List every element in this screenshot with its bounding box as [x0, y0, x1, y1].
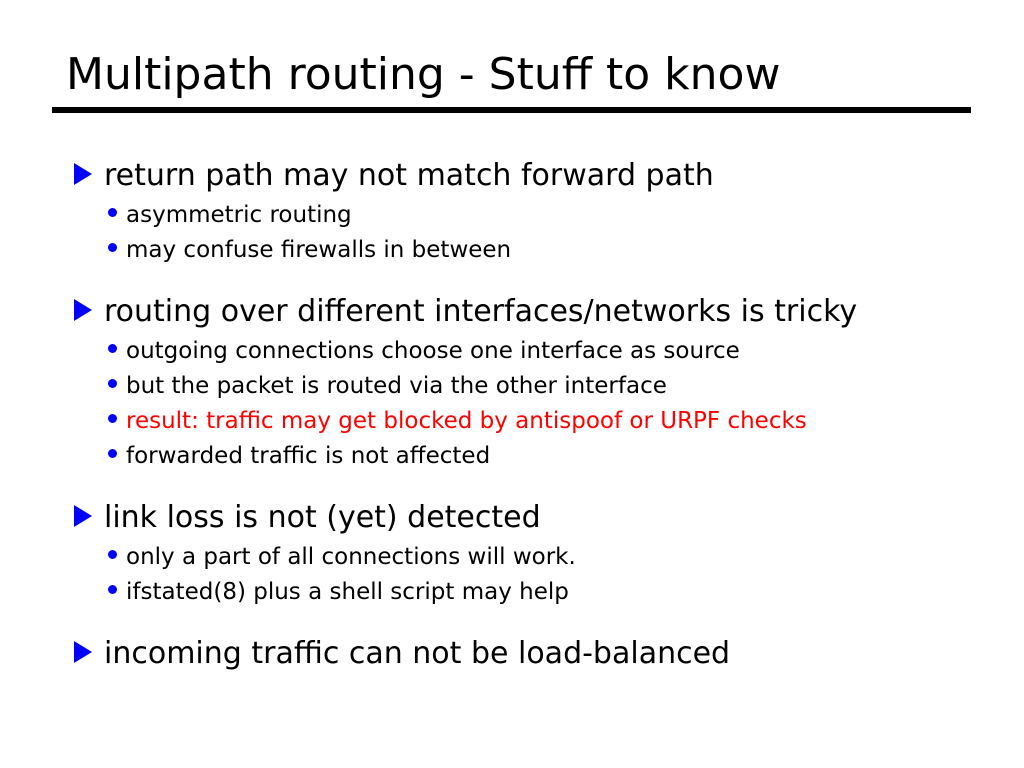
title-block: Multipath routing - Stuff to know [52, 46, 971, 113]
bullet-level1-item: return path may not match forward path [72, 156, 992, 196]
bullet-level1-label: routing over different interfaces/networ… [104, 292, 857, 332]
bullet-level2-item: outgoing connections choose one interfac… [104, 334, 992, 369]
bullet-level2-item: only a part of all connections will work… [104, 540, 992, 575]
bullet-level2-item: result: traffic may get blocked by antis… [104, 404, 992, 439]
bullet-level2-item: ifstated(8) plus a shell script may help [104, 575, 992, 610]
slide: Multipath routing - Stuff to know return… [0, 0, 1024, 768]
bullet-level2-label: only a part of all connections will work… [126, 540, 576, 575]
bullet-level2-list: outgoing connections choose one interfac… [104, 334, 992, 474]
bullet-level2-label: ifstated(8) plus a shell script may help [126, 575, 569, 610]
bullet-level2-label: but the packet is routed via the other i… [126, 369, 667, 404]
bullet-level2-list: asymmetric routingmay confuse firewalls … [104, 198, 992, 268]
bullet-level2-item: but the packet is routed via the other i… [104, 369, 992, 404]
bullet-level2-label: forwarded traffic is not affected [126, 439, 490, 474]
bullet-group: incoming traffic can not be load-balance… [72, 634, 992, 674]
bullet-level2-item: forwarded traffic is not affected [104, 439, 992, 474]
bullet-group: return path may not match forward pathas… [72, 156, 992, 268]
bullet-level1-label: return path may not match forward path [104, 156, 714, 196]
bullet-level1-item: routing over different interfaces/networ… [72, 292, 992, 332]
bullet-level1-item: incoming traffic can not be load-balance… [72, 634, 992, 674]
bullet-level2-label: outgoing connections choose one interfac… [126, 334, 740, 369]
bullet-level2-list: only a part of all connections will work… [104, 540, 992, 610]
bullet-level1-label: link loss is not (yet) detected [104, 498, 541, 538]
bullet-list: return path may not match forward pathas… [72, 156, 992, 676]
bullet-level1-item: link loss is not (yet) detected [72, 498, 992, 538]
bullet-level2-label: asymmetric routing [126, 198, 352, 233]
bullet-level1-label: incoming traffic can not be load-balance… [104, 634, 730, 674]
bullet-level2-label: result: traffic may get blocked by antis… [126, 404, 807, 439]
bullet-level2-item: asymmetric routing [104, 198, 992, 233]
title-underline-rule [52, 107, 971, 113]
bullet-group: routing over different interfaces/networ… [72, 292, 992, 474]
page-title: Multipath routing - Stuff to know [52, 46, 971, 104]
bullet-level2-label: may confuse firewalls in between [126, 233, 511, 268]
bullet-group: link loss is not (yet) detectedonly a pa… [72, 498, 992, 610]
bullet-level2-item: may confuse firewalls in between [104, 233, 992, 268]
